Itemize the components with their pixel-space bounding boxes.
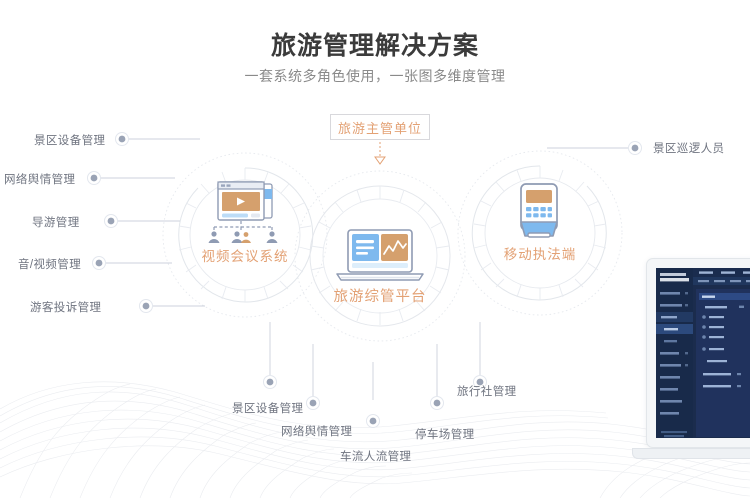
- laptop-dashboard-icon: [331, 228, 429, 284]
- node-label-video-conference: 视频会议系统: [175, 245, 315, 265]
- spoke-label-bottom-3: 停车场管理: [415, 426, 475, 442]
- laptop-base: [632, 448, 750, 459]
- spoke-label-right-0: 景区巡逻人员: [653, 140, 724, 156]
- spoke-label-bottom-1: 网络舆情管理: [281, 423, 352, 439]
- laptop-body: [646, 258, 750, 448]
- spoke-label-left-3: 音/视频管理: [18, 256, 81, 272]
- page-title: 旅游管理解决方案: [0, 26, 750, 62]
- spoke-label-bottom-4: 旅行社管理: [457, 383, 517, 399]
- spoke-label-bottom-2: 车流人流管理: [340, 448, 411, 464]
- infographic-canvas: 旅游管理解决方案 一套系统多角色使用，一张图多维度管理 旅游主管单位: [0, 0, 750, 498]
- spoke-label-left-4: 游客投诉管理: [30, 299, 101, 315]
- dashboard-content-items: [693, 268, 750, 438]
- handheld-device-icon: [508, 182, 570, 244]
- badge-connector-arrow: [366, 142, 394, 170]
- node-label-platform: 旅游综管平台: [310, 285, 450, 306]
- dashboard-sidebar-items: [656, 268, 693, 438]
- spoke-label-left-2: 导游管理: [32, 214, 80, 230]
- dashboard-sidebar: [656, 268, 693, 438]
- authority-badge: 旅游主管单位: [330, 114, 430, 140]
- spoke-label-left-0: 景区设备管理: [34, 132, 105, 148]
- spoke-label-left-1: 网络舆情管理: [4, 171, 75, 187]
- dashboard-content: [693, 268, 750, 438]
- right-spoke-connectors: [545, 133, 655, 163]
- dashboard-screenshot: [656, 268, 750, 438]
- video-window-icon: [196, 180, 296, 244]
- node-label-mobile-law: 移动执法端: [470, 243, 610, 263]
- spoke-label-bottom-0: 景区设备管理: [232, 400, 303, 416]
- authority-badge-label: 旅游主管单位: [338, 118, 422, 137]
- page-subtitle: 一套系统多角色使用，一张图多维度管理: [0, 66, 750, 86]
